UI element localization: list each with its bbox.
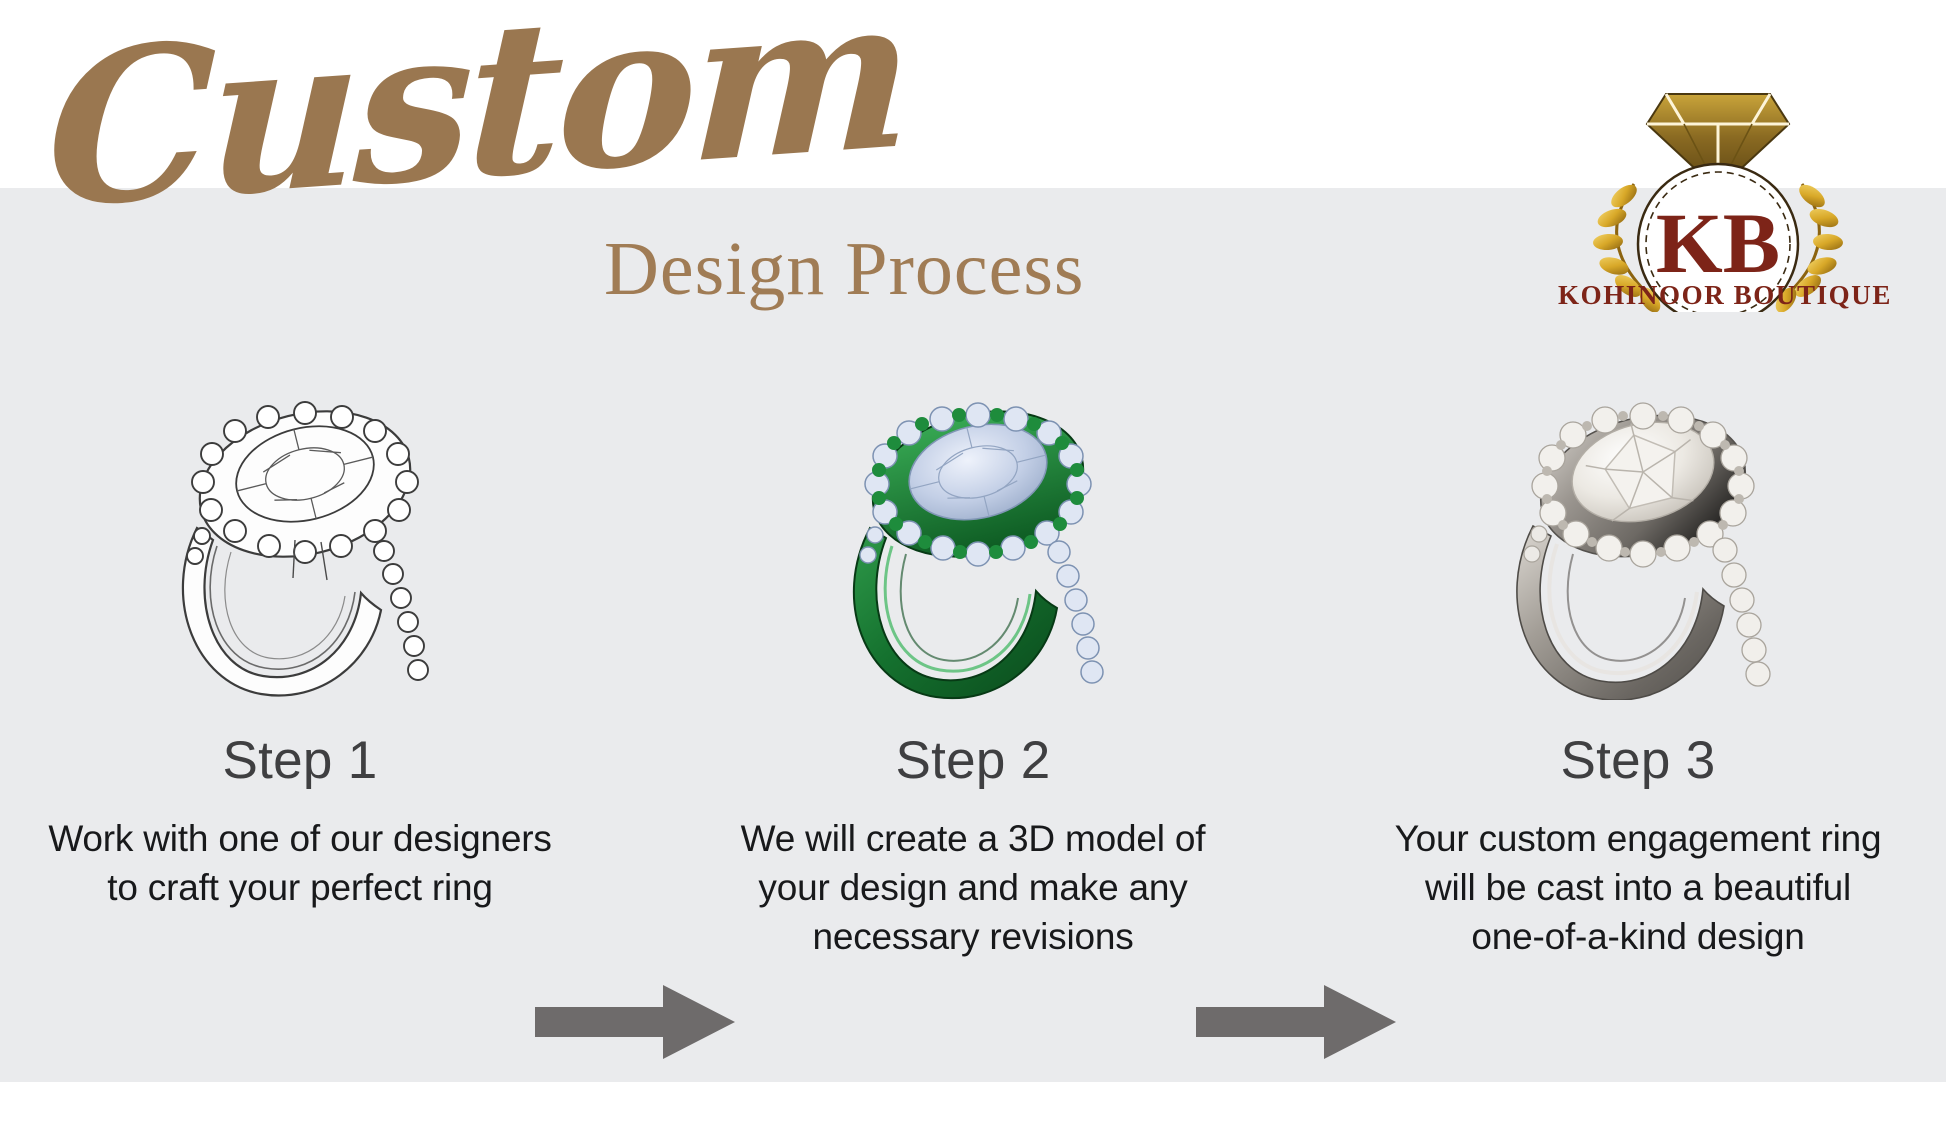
step-desc-line: one-of-a-kind design <box>1338 912 1938 961</box>
brand-logo[interactable]: KB KOHINOOR BOUTIQUE <box>1558 72 1878 372</box>
ring-sketch-icon <box>135 400 465 700</box>
step-title: Step 3 <box>1338 730 1938 792</box>
logo-wordmark: KOHINOOR BOUTIQUE <box>1558 280 1878 311</box>
page-subtitle: Design Process <box>604 226 1324 313</box>
step-desc-line: to craft your perfect ring <box>0 863 600 912</box>
step-title: Step 1 <box>0 730 600 792</box>
step-caption-2: Step 2 We will create a 3D model of your… <box>673 730 1273 961</box>
arrow-right-icon <box>1196 985 1396 1059</box>
step-card-2: Step 2 We will create a 3D model of your… <box>673 400 1273 1060</box>
diamond-ring-laurel-icon: KB <box>1558 72 1878 312</box>
step-description: Work with one of our designers to craft … <box>0 814 600 912</box>
step-caption-3: Step 3 Your custom engagement ring will … <box>1338 730 1938 961</box>
step-desc-line: necessary revisions <box>673 912 1273 961</box>
step-desc-line: Your custom engagement ring <box>1338 814 1938 863</box>
step-desc-line: your design and make any <box>673 863 1273 912</box>
step-card-3: Step 3 Your custom engagement ring will … <box>1338 400 1938 1060</box>
ring-3d-model-icon <box>808 400 1138 700</box>
ring-photo-icon <box>1473 400 1803 700</box>
step-card-1: Step 1 Work with one of our designers to… <box>0 400 600 1060</box>
arrow-right-icon <box>535 985 735 1059</box>
step-description: Your custom engagement ring will be cast… <box>1338 814 1938 961</box>
step-title: Step 2 <box>673 730 1273 792</box>
step-desc-line: Work with one of our designers <box>0 814 600 863</box>
infographic-canvas: Custom Design Process <box>0 0 1946 1143</box>
step-desc-line: We will create a 3D model of <box>673 814 1273 863</box>
step-caption-1: Step 1 Work with one of our designers to… <box>0 730 600 912</box>
step-description: We will create a 3D model of your design… <box>673 814 1273 961</box>
svg-text:KB: KB <box>1656 195 1780 291</box>
step-desc-line: will be cast into a beautiful <box>1338 863 1938 912</box>
steps-row: Step 1 Work with one of our designers to… <box>0 400 1946 1060</box>
